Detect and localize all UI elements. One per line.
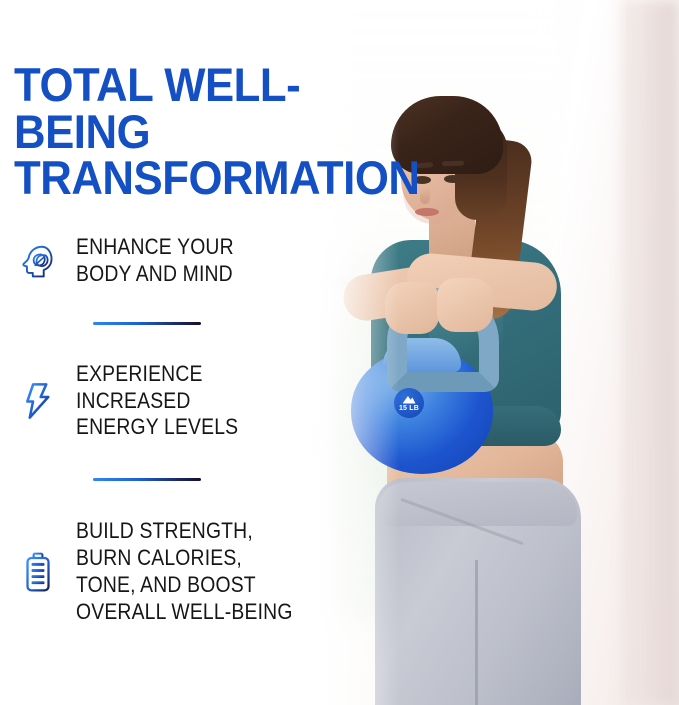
page-title: TOTAL WELL-BEING TRANSFORMATION bbox=[14, 62, 405, 202]
headline-line-1: TOTAL WELL-BEING bbox=[14, 58, 300, 158]
head-leaf-icon bbox=[0, 242, 76, 280]
wall-edge bbox=[628, 0, 631, 705]
benefit-divider bbox=[93, 478, 201, 481]
benefit-item-body-and-mind: ENHANCE YOUR BODY AND MIND bbox=[0, 222, 440, 300]
benefit-divider-2-wrap bbox=[0, 456, 440, 502]
benefit-item-strength: BUILD STRENGTH, BURN CALORIES, TONE, AND… bbox=[0, 502, 440, 642]
model-eye-right bbox=[444, 175, 462, 183]
benefit-item-energy: EXPERIENCE INCREASED ENERGY LEVELS bbox=[0, 346, 440, 456]
copy-panel: TOTAL WELL-BEING TRANSFORMATION bbox=[0, 0, 440, 705]
promo-banner: 15 LB TOTAL WELL-BEING TRANSFORMATION bbox=[0, 0, 679, 705]
headline-line-2: TRANSFORMATION bbox=[14, 155, 405, 202]
model-hand-right bbox=[437, 278, 493, 332]
benefit-divider-1-wrap bbox=[0, 300, 440, 346]
leggings-seam bbox=[475, 560, 478, 705]
lightning-bolt-icon bbox=[0, 382, 76, 420]
benefit-label: ENHANCE YOUR BODY AND MIND bbox=[76, 234, 234, 288]
benefit-list: ENHANCE YOUR BODY AND MIND bbox=[0, 222, 440, 642]
model-brow-right bbox=[442, 161, 464, 167]
benefit-label: BUILD STRENGTH, BURN CALORIES, TONE, AND… bbox=[76, 518, 293, 625]
benefit-divider bbox=[93, 322, 201, 325]
battery-icon bbox=[0, 551, 76, 593]
benefit-label: EXPERIENCE INCREASED ENERGY LEVELS bbox=[76, 361, 238, 441]
